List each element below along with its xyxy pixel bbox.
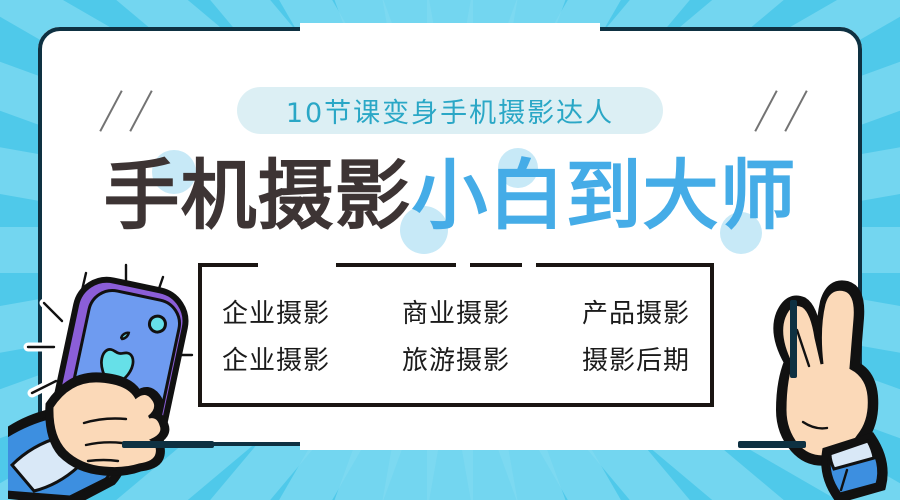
course-item: 产品摄影 xyxy=(582,293,690,330)
sleeve xyxy=(826,438,882,498)
card-border-gap-bottom xyxy=(300,440,800,450)
accent-bar-vertical-right xyxy=(790,300,797,378)
card-border-gap-top xyxy=(300,23,600,33)
course-item: 企业摄影 xyxy=(222,293,330,330)
title-blue-part: 小白到大师 xyxy=(412,158,797,234)
accent-bar-left xyxy=(122,441,214,448)
subtitle-text: 10节课变身手机摄影达人 xyxy=(286,91,614,130)
course-item: 摄影后期 xyxy=(582,340,690,377)
accent-bar-right xyxy=(738,441,806,448)
course-item: 企业摄影 xyxy=(222,340,330,377)
course-row: 企业摄影 商业摄影 产品摄影 xyxy=(222,293,690,330)
course-items: 企业摄影 商业摄影 产品摄影 企业摄影 旅游摄影 摄影后期 xyxy=(198,263,714,407)
camera-lens xyxy=(148,315,167,334)
course-row: 企业摄影 旅游摄影 摄影后期 xyxy=(222,340,690,377)
course-item: 商业摄影 xyxy=(402,293,510,330)
poster-canvas: 10节课变身手机摄影达人 手机摄影小白到大师 企业摄影 商业摄影 产品摄影 企业… xyxy=(0,0,900,500)
title-dark-part: 手机摄影 xyxy=(104,158,412,234)
hand-peace-sign-illustration xyxy=(755,270,895,500)
course-item: 旅游摄影 xyxy=(402,340,510,377)
hand-holding-phone-illustration xyxy=(8,255,208,500)
subtitle-pill: 10节课变身手机摄影达人 xyxy=(237,87,663,134)
main-title: 手机摄影小白到大师 xyxy=(0,150,900,242)
course-list-box: 企业摄影 商业摄影 产品摄影 企业摄影 旅游摄影 摄影后期 xyxy=(198,263,714,407)
